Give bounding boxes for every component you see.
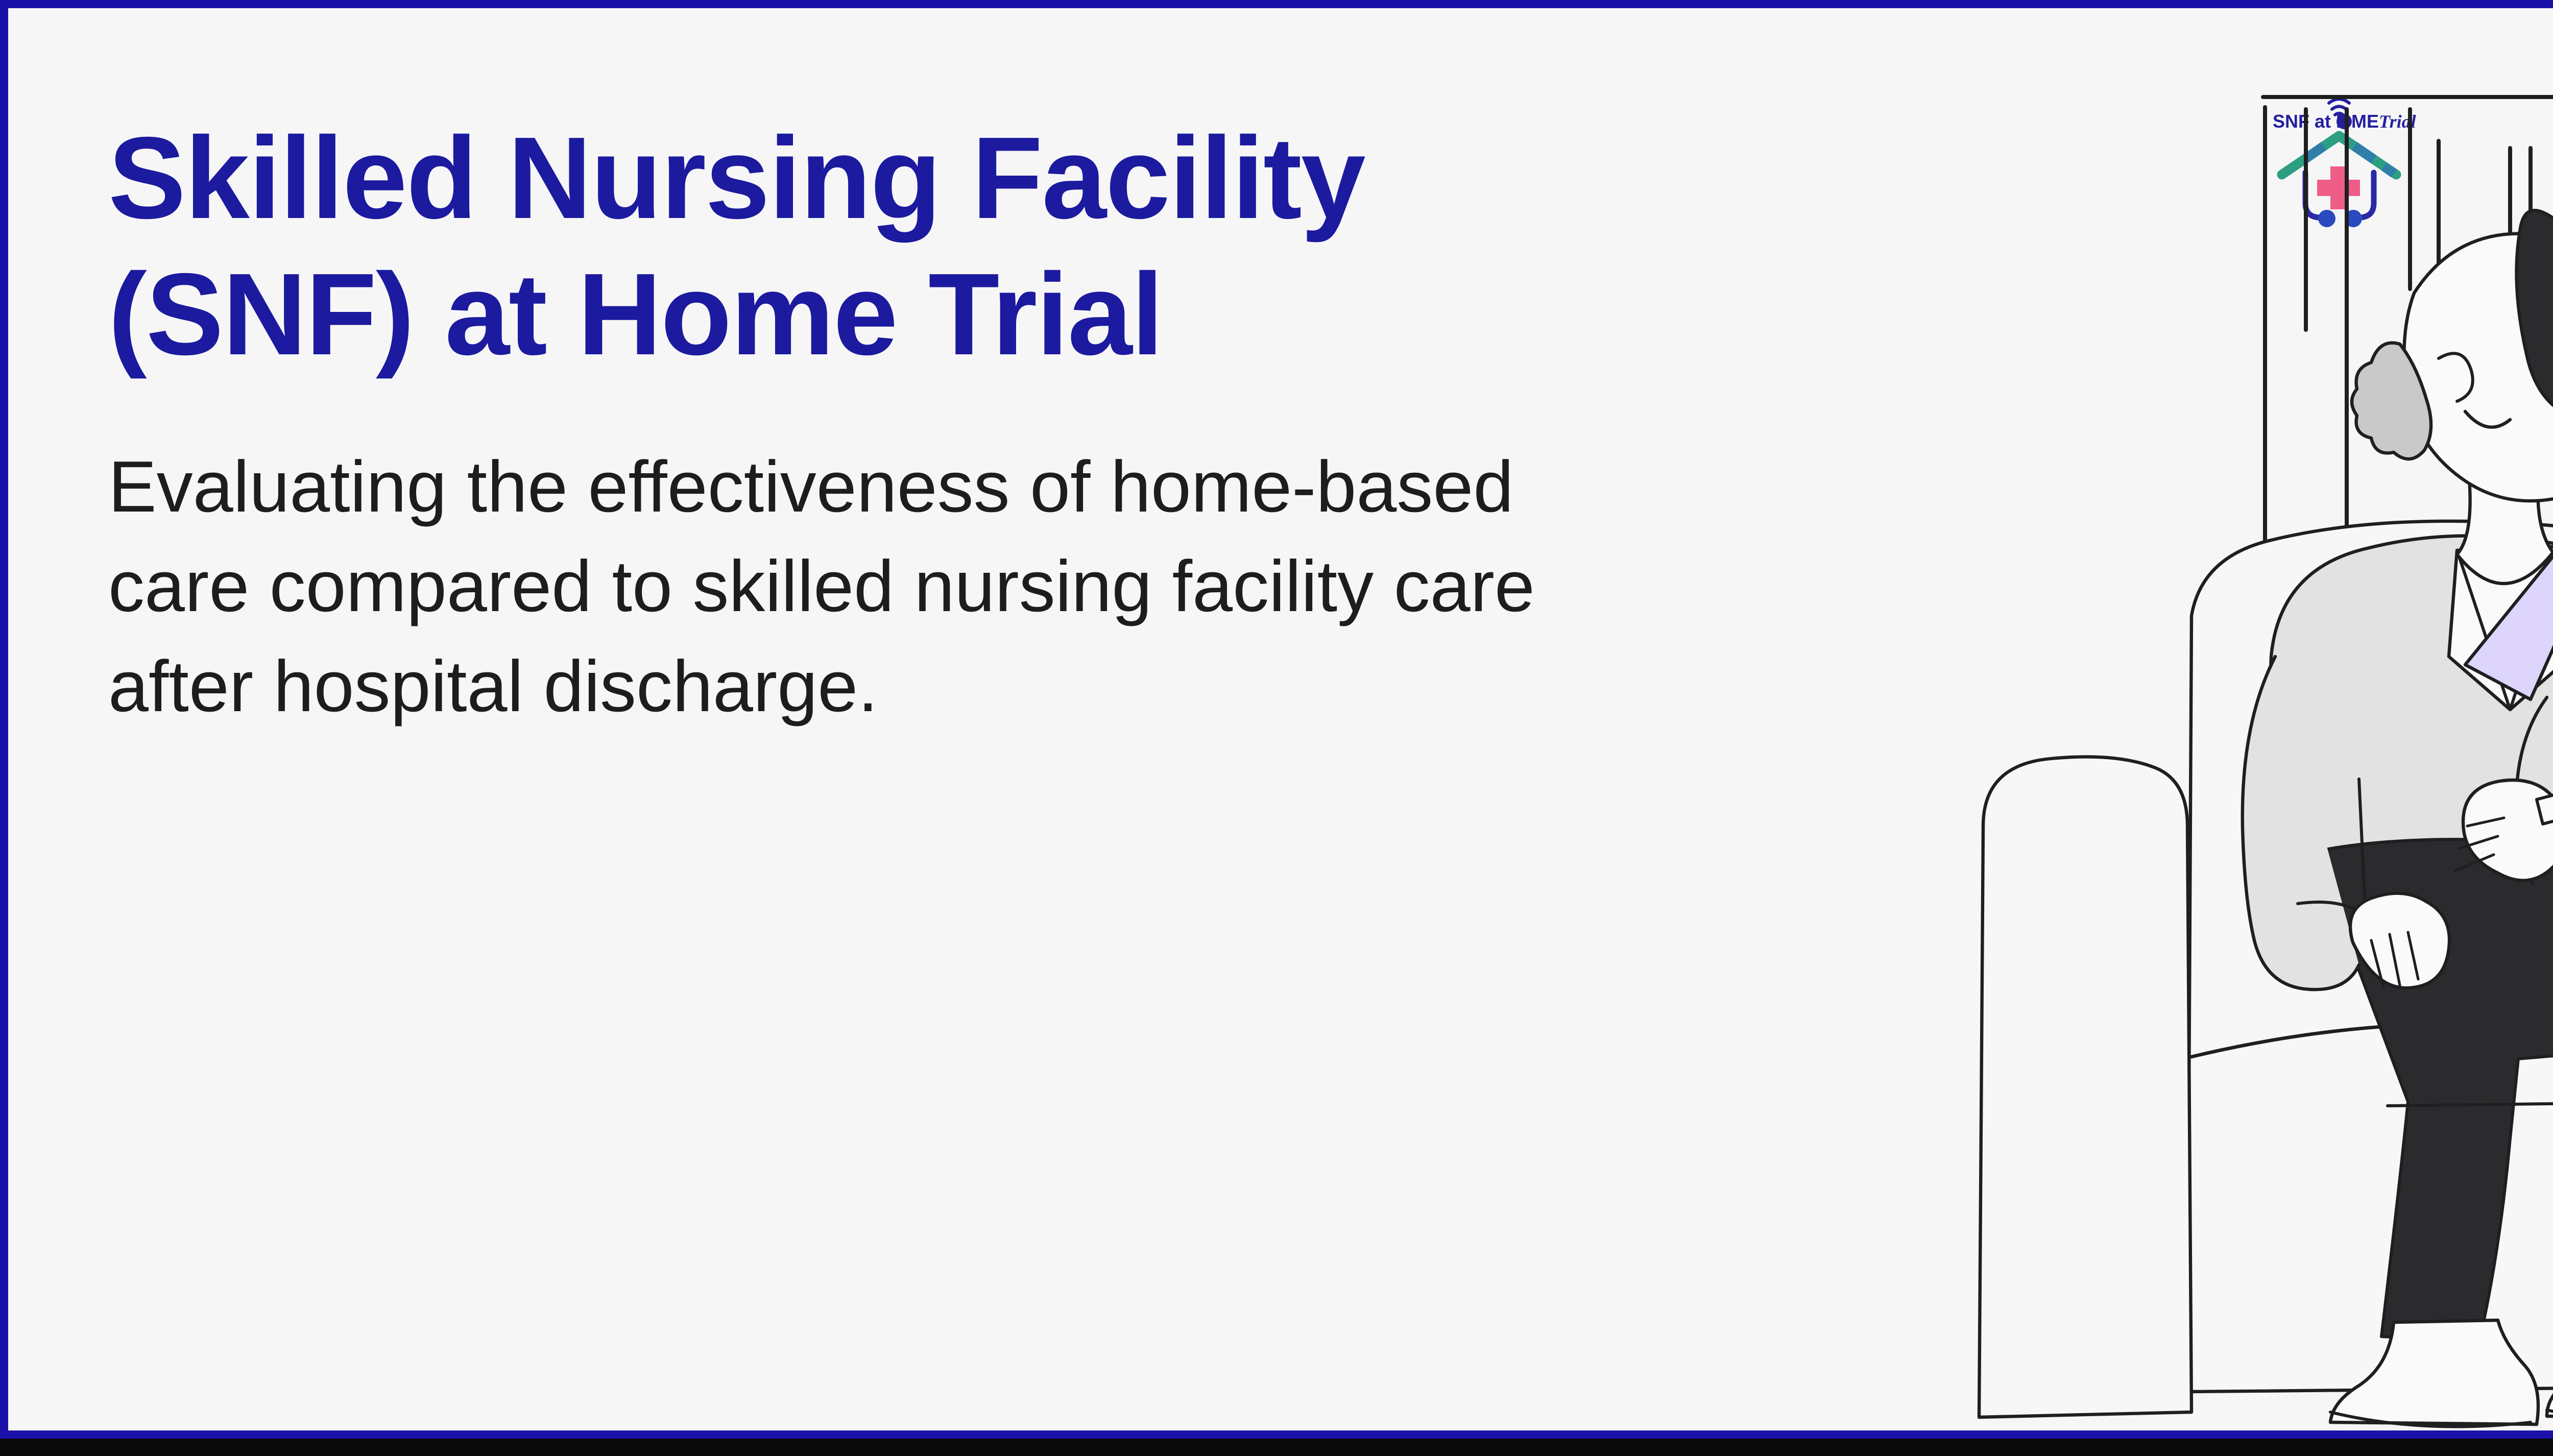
bottom-bar	[0, 1439, 2553, 1456]
hero-banner: Skilled Nursing Facility (SNF) at Home T…	[0, 0, 2553, 1439]
hero-text-column: Skilled Nursing Facility (SNF) at Home T…	[108, 110, 1691, 737]
hero-inner: Skilled Nursing Facility (SNF) at Home T…	[8, 8, 2553, 1430]
page-title: Skilled Nursing Facility (SNF) at Home T…	[108, 110, 1691, 383]
nurse-and-elderly-patient-illustration	[1938, 85, 2553, 1430]
page-subtitle: Evaluating the effectiveness of home-bas…	[108, 383, 1630, 737]
